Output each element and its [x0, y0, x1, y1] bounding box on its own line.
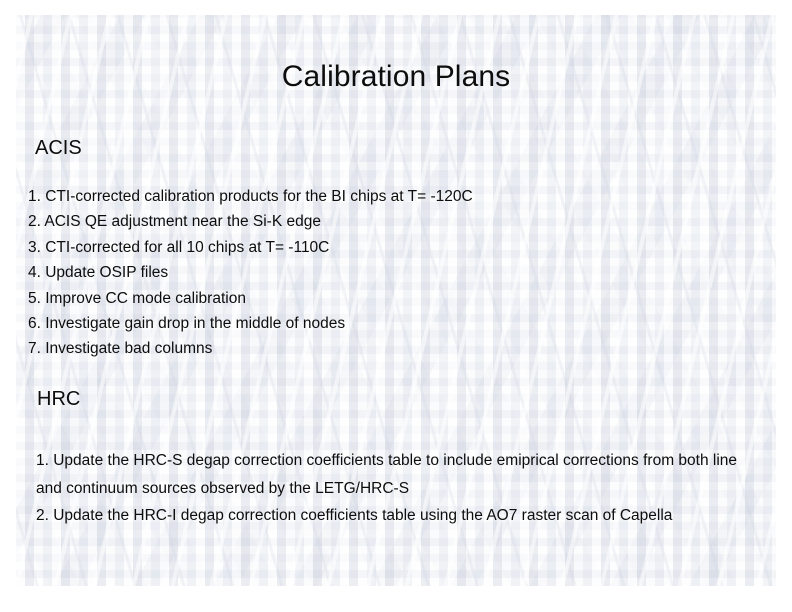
hrc-item-list: 1. Update the HRC-S degap correction coe… [36, 447, 766, 530]
list-item: 3. CTI-corrected for all 10 chips at T= … [28, 235, 728, 260]
page-title: Calibration Plans [16, 59, 776, 95]
list-item: 7. Investigate bad columns [28, 336, 728, 361]
list-item: 6. Investigate gain drop in the middle o… [28, 311, 728, 336]
slide-content: Calibration Plans ACIS 1. CTI-corrected … [16, 15, 776, 586]
acis-item-list: 1. CTI-corrected calibration products fo… [28, 184, 728, 362]
list-item: 1. Update the HRC-S degap correction coe… [36, 447, 766, 502]
section-heading-acis: ACIS [35, 136, 82, 160]
list-item: 1. CTI-corrected calibration products fo… [28, 184, 728, 209]
list-item: 4. Update OSIP files [28, 260, 728, 285]
list-item: 5. Improve CC mode calibration [28, 286, 728, 311]
section-heading-hrc: HRC [37, 387, 80, 411]
slide-canvas: Calibration Plans ACIS 1. CTI-corrected … [16, 15, 776, 586]
list-item: 2. Update the HRC-I degap correction coe… [36, 502, 766, 530]
slide-root: Calibration Plans ACIS 1. CTI-corrected … [0, 0, 792, 612]
list-item: 2. ACIS QE adjustment near the Si-K edge [28, 209, 728, 234]
